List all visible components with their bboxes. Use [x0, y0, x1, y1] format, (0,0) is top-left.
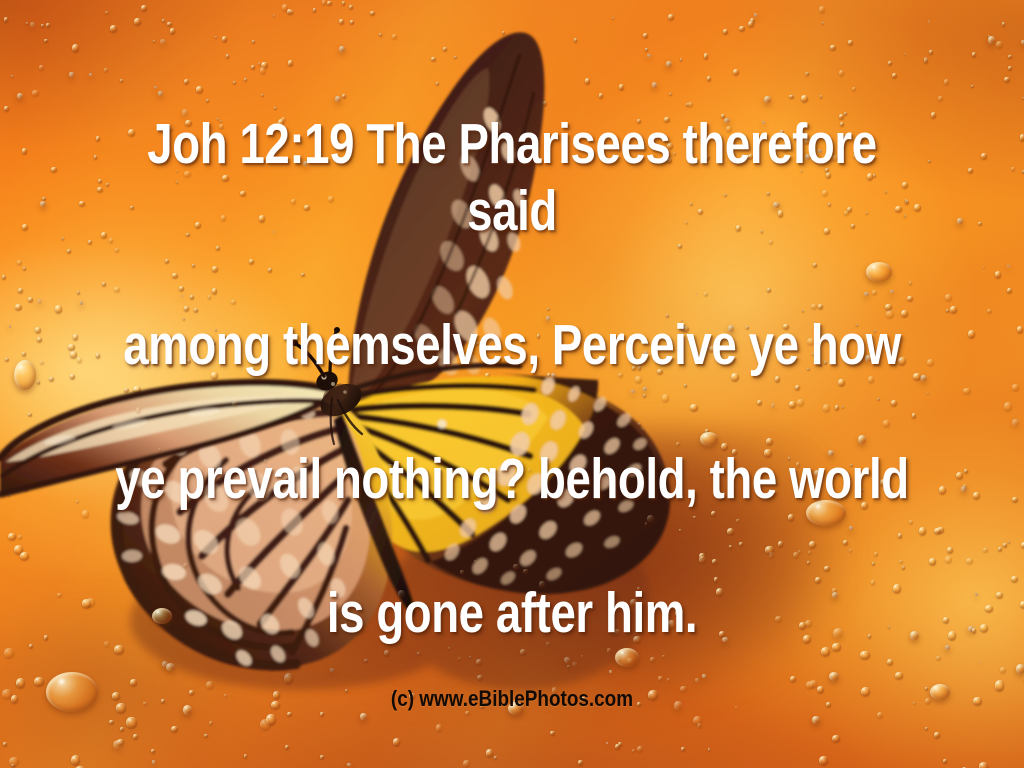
copyright-watermark: (c) www.eBiblePhotos.com: [72, 688, 953, 710]
bible-verse-text: Joh 12:19 The Pharisees therefore said a…: [102, 44, 921, 714]
verse-image-canvas: Joh 12:19 The Pharisees therefore said a…: [0, 0, 1024, 768]
verse-line-3: ye prevail nothing? behold, the world: [102, 446, 921, 513]
verse-line-2: among themselves, Perceive ye how: [102, 312, 921, 379]
verse-line-1: Joh 12:19 The Pharisees therefore said: [102, 111, 921, 245]
water-droplet-large: [14, 360, 36, 390]
verse-line-4: is gone after him.: [102, 580, 921, 647]
